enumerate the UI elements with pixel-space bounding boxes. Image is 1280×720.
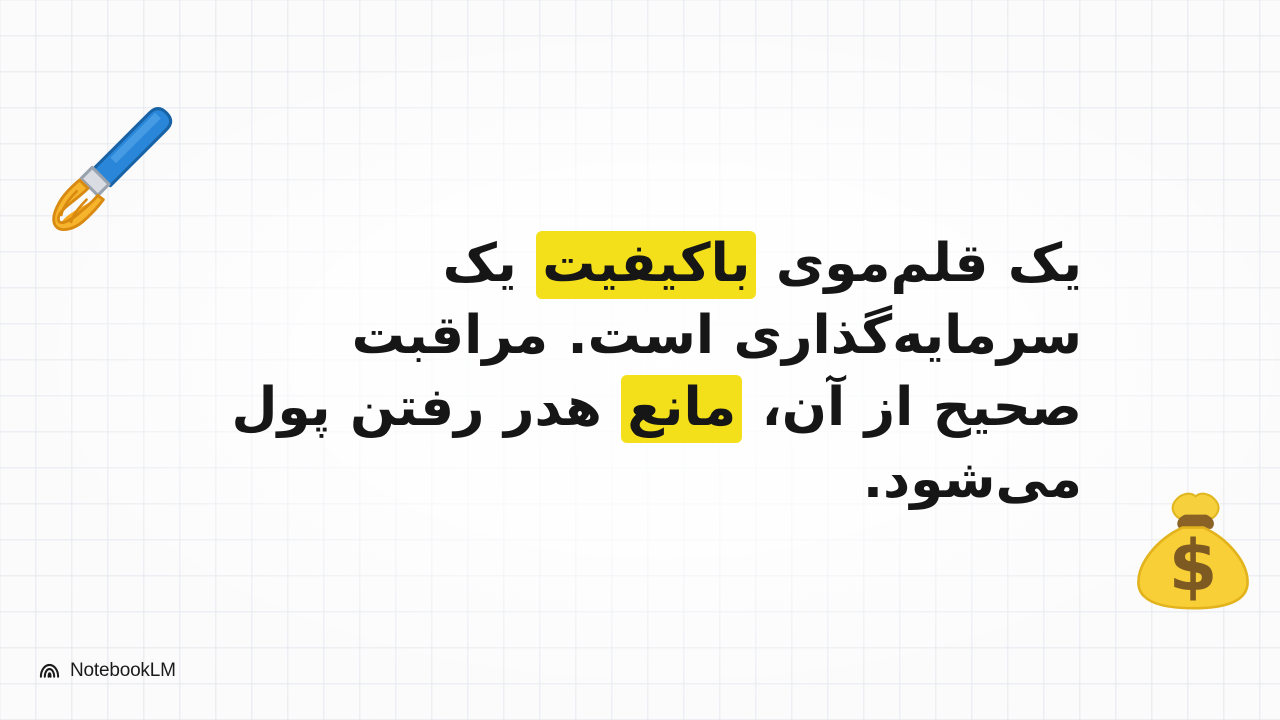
money-bag-emoji: $ (1128, 486, 1258, 616)
caption-text: یک قلم‌موی باکیفیت یک سرمایه‌گذاری است. … (190, 228, 1082, 516)
caption-highlight-1: باکیفیت (536, 231, 756, 299)
caption-segment-plain-1: یک قلم‌موی (756, 233, 1082, 294)
paintbrush-emoji (46, 96, 186, 236)
caption-highlight-2: مانع (621, 375, 742, 443)
svg-text:$: $ (1169, 525, 1218, 607)
slide-canvas: $ یک قلم‌موی باکیفیت یک سرمایه‌گذاری است… (0, 0, 1280, 720)
notebooklm-logo: NotebookLM (38, 659, 176, 682)
notebooklm-wordmark: NotebookLM (70, 660, 176, 682)
notebooklm-spiral-icon (38, 659, 61, 682)
